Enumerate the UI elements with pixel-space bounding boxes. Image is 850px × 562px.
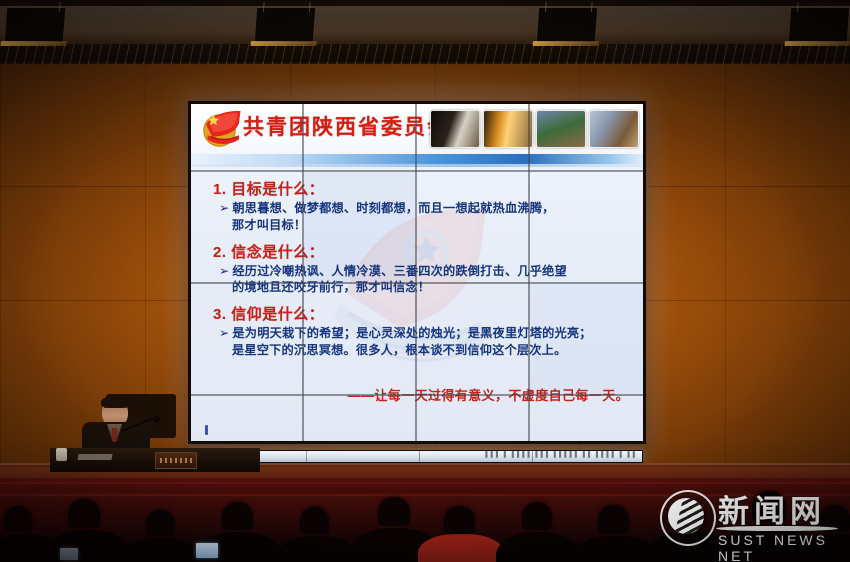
presentation-slide: 共青团陕西省委员会 1. 目标是什么： (191, 104, 643, 441)
audience-member (752, 491, 786, 522)
section-heading: 3. 信仰是什么： (213, 303, 633, 324)
auditorium-photo: 共青团陕西省委员会 1. 目标是什么： (0, 0, 850, 562)
section-heading-text: 信念是什么： (231, 244, 324, 261)
phone-screen (60, 548, 78, 560)
audience-member (722, 524, 814, 562)
header-thumbnail-strip (430, 110, 639, 146)
section-line-1: 经历过冷嘲热讽、人情冷漠、三番四次的跌倒打击、几乎绝望 (232, 264, 566, 278)
audience-member (378, 497, 410, 526)
section-number: 1. (213, 181, 227, 198)
audience-member (146, 510, 175, 536)
seat-row-line (0, 494, 850, 496)
audience-member (300, 507, 329, 534)
audience-member (122, 538, 202, 562)
lower-led-strip-display[interactable]: ▌▌▌ ▌ ▌▌▌▌ ▌▌▌ ▌▌▌▌▌ ▌▌ ▌▌▌▌ ▌ ▌▌ (194, 451, 642, 462)
bullet-arrow-icon: ➢ (219, 326, 229, 340)
speaker-tie (112, 428, 117, 441)
ceiling-truss (0, 44, 850, 64)
glasses-icon (104, 407, 127, 412)
section-heading-text: 信仰是什么： (231, 306, 324, 323)
audience-member (820, 505, 850, 532)
bullet-arrow-icon: ➢ (219, 201, 229, 215)
section-body: ➢是为明天栽下的希望；是心灵深处的烛光；是黑夜里灯塔的光亮； 是星空下的沉思冥想… (219, 325, 633, 359)
section-line-1: 是为明天栽下的希望；是心灵深处的烛光；是黑夜里灯塔的光亮； (232, 326, 591, 340)
water-cup (56, 448, 67, 461)
audience-member (598, 505, 629, 534)
slide-header: 共青团陕西省委员会 (191, 104, 643, 170)
section-heading: 1. 目标是什么： (213, 178, 633, 199)
desk-nameplate (155, 452, 197, 469)
speaker-podium (60, 392, 240, 472)
slide-section: 1. 目标是什么： ➢朝思暮想、做梦都想、时刻都想，而且一想起就热血沸腾， 那才… (205, 178, 633, 234)
audience-member (68, 499, 100, 528)
audience-member (648, 530, 732, 562)
audience-member (222, 502, 253, 530)
header-divider-secondary (191, 164, 643, 167)
thumbnail-image (483, 110, 533, 148)
audience-member (674, 501, 704, 528)
thumbnail-image (430, 110, 480, 148)
section-line-1: 朝思暮想、做梦都想、时刻都想，而且一想起就热血沸腾， (232, 201, 554, 215)
section-line-2: 那才叫目标！ (232, 217, 633, 234)
stage-light-icon (537, 8, 597, 42)
audience-member (444, 506, 475, 534)
desk-papers (77, 454, 112, 460)
audience-member-red-jacket (418, 534, 504, 562)
slide-body: 1. 目标是什么： ➢朝思暮想、做梦都想、时刻都想，而且一想起就热血沸腾， 那才… (191, 170, 643, 366)
stage-light-icon (5, 8, 65, 42)
slide-conclusion: ——让每一天过得有意义，不虚度自己每一天。 (191, 385, 629, 404)
section-heading-text: 目标是什么： (231, 181, 324, 198)
audience-seating (0, 478, 850, 562)
stage-light-icon (789, 8, 849, 42)
microphone-icon (153, 416, 160, 423)
section-number: 2. (213, 244, 227, 261)
section-line-2: 是星空下的沉思冥想。很多人，根本谈不到信仰这个层次上。 (232, 342, 633, 359)
stage-light-icon (255, 8, 315, 42)
audience-member (4, 506, 32, 532)
section-body: ➢朝思暮想、做梦都想、时刻都想，而且一想起就热血沸腾， 那才叫目标！ (219, 200, 633, 234)
header-divider (191, 154, 643, 164)
lower-strip-text: ▌▌▌ ▌ ▌▌▌▌ ▌▌▌ ▌▌▌▌▌ ▌▌ ▌▌▌▌ ▌ ▌▌ (485, 452, 638, 458)
phone-screen (196, 543, 218, 558)
communist-youth-league-emblem-icon (198, 108, 244, 150)
audience-member (496, 532, 580, 562)
audience-member (572, 536, 660, 562)
seat-row-line (0, 482, 850, 484)
slide-title: 共青团陕西省委员会 (243, 111, 450, 141)
audience-member (522, 502, 552, 530)
ceiling-soffit (0, 6, 850, 46)
slide-section: 3. 信仰是什么： ➢是为明天栽下的希望；是心灵深处的烛光；是黑夜里灯塔的光亮；… (205, 303, 633, 359)
thumbnail-image (536, 110, 586, 148)
thumbnail-image (589, 110, 639, 148)
audience-member (44, 530, 132, 562)
section-line-2: 的境地且还咬牙前行，那才叫信念！ (232, 279, 633, 296)
section-number: 3. (213, 306, 227, 323)
bullet-arrow-icon: ➢ (219, 264, 229, 278)
video-wall-display[interactable]: 共青团陕西省委员会 1. 目标是什么： (191, 104, 643, 441)
slide-section: 2. 信念是什么： ➢经历过冷嘲热讽、人情冷漠、三番四次的跌倒打击、几乎绝望 的… (205, 241, 633, 297)
section-body: ➢经历过冷嘲热讽、人情冷漠、三番四次的跌倒打击、几乎绝望 的境地且还咬牙前行，那… (219, 263, 633, 297)
section-heading: 2. 信念是什么： (213, 241, 633, 262)
audience-member (276, 536, 358, 562)
